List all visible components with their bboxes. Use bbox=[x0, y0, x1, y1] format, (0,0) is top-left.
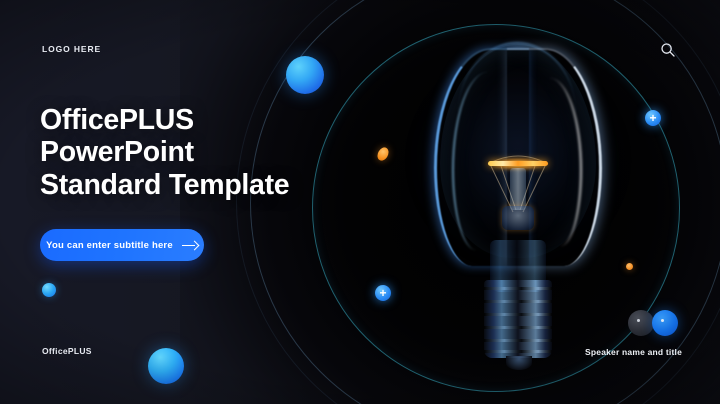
page-title: OfficePLUS PowerPoint Standard Template bbox=[40, 104, 380, 201]
logo-placeholder: LOGO HERE bbox=[42, 44, 101, 54]
slide-vignette bbox=[0, 0, 720, 404]
title-line-3: Standard Template bbox=[40, 169, 380, 201]
search-icon[interactable] bbox=[660, 42, 676, 58]
subtitle-button[interactable]: You can enter subtitle here bbox=[40, 229, 204, 261]
title-line-2: PowerPoint bbox=[40, 136, 380, 168]
footer-brand: OfficePLUS bbox=[42, 346, 92, 356]
speaker-name-and-title: Speaker name and title bbox=[585, 347, 682, 357]
title-line-1: OfficePLUS bbox=[40, 104, 380, 136]
subtitle-button-label: You can enter subtitle here bbox=[46, 240, 173, 251]
arrow-right-icon bbox=[182, 241, 198, 249]
presentation-slide: + + LOGO HERE OfficePLUS PowerPoint Stan… bbox=[0, 0, 720, 404]
